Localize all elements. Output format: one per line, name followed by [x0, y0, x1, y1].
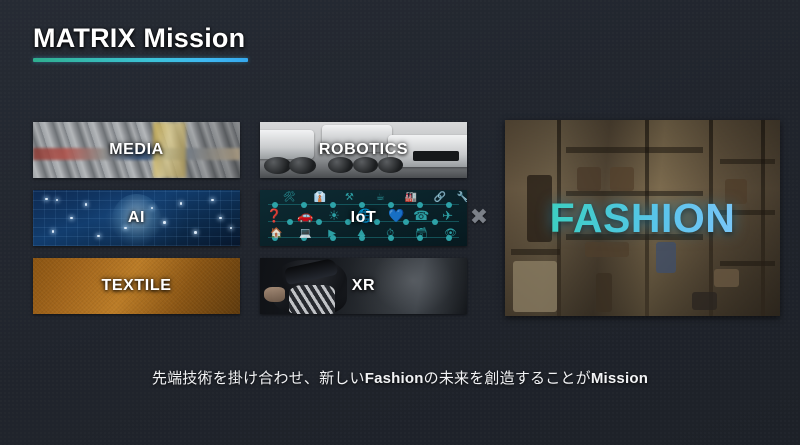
- title-underline-accent: [33, 58, 248, 62]
- title-block: MATRIX Mission: [33, 20, 248, 62]
- slide-canvas: MATRIX Mission MEDIA ROBOTICS: [0, 0, 800, 445]
- tile-label-media: MEDIA: [109, 141, 164, 159]
- tile-iot[interactable]: 🛠 👔 ⚒ ☕ 🏭 🔗 🔧 ❓ 🚗 ☀ 🌐 💙 ☎ ✈ 🏠 💻 ▶ ⛰ ⏱: [260, 190, 467, 246]
- tile-textile[interactable]: TEXTILE: [33, 258, 240, 314]
- tile-media[interactable]: MEDIA: [33, 122, 240, 178]
- mission-caption: 先端技術を掛け合わせ、新しいFashionの未来を創造することがMission: [0, 368, 800, 390]
- technology-tile-grid: MEDIA ROBOTICS: [33, 122, 467, 314]
- caption-emphasis-mission: Mission: [591, 370, 648, 387]
- fashion-panel[interactable]: FASHION: [505, 120, 780, 316]
- tile-label-xr: XR: [352, 277, 375, 295]
- tile-robotics[interactable]: ROBOTICS: [260, 122, 467, 178]
- tile-label-iot: IoT: [351, 209, 377, 227]
- caption-part-1: 先端技術を掛け合わせ、新しい: [152, 370, 365, 387]
- multiply-symbol-icon: ✖: [468, 206, 490, 228]
- fashion-title: FASHION: [550, 195, 736, 242]
- page-title: MATRIX Mission: [33, 20, 248, 56]
- tile-label-textile: TEXTILE: [102, 277, 172, 295]
- caption-part-2: の未来を創造することが: [424, 370, 591, 387]
- caption-emphasis-fashion: Fashion: [365, 370, 424, 387]
- tile-ai[interactable]: AI: [33, 190, 240, 246]
- tile-label-ai: AI: [128, 209, 145, 227]
- tile-label-robotics: ROBOTICS: [319, 141, 408, 159]
- tile-xr[interactable]: XR: [260, 258, 467, 314]
